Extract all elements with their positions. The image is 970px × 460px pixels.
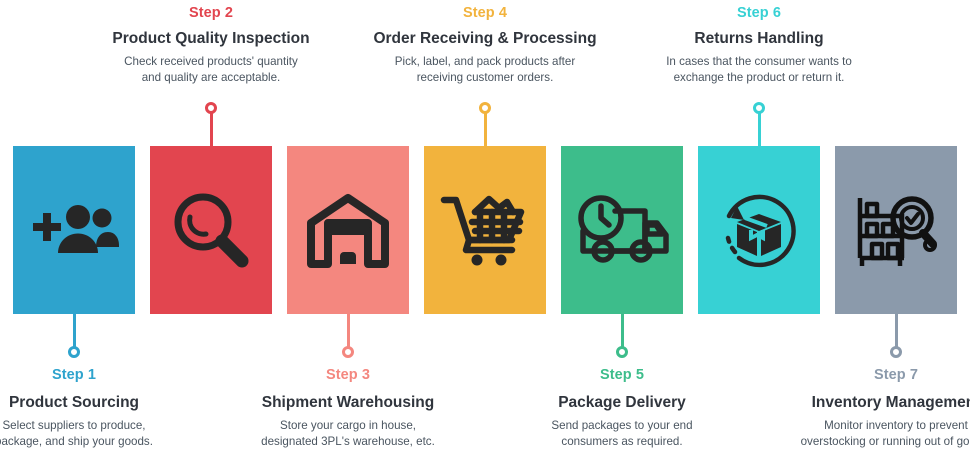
step-title: Order Receiving & Processing bbox=[353, 29, 618, 48]
step-description-line-2: receiving customer orders. bbox=[353, 70, 618, 86]
step-label: Step 2 bbox=[81, 4, 341, 22]
step-card-2[interactable] bbox=[150, 146, 272, 314]
step-title: Product Sourcing bbox=[0, 393, 182, 412]
step-card-7[interactable] bbox=[835, 146, 957, 314]
connector-step-3 bbox=[347, 312, 350, 352]
step-description-line-1: Send packages to your end bbox=[515, 418, 730, 434]
connector-dot bbox=[479, 102, 491, 114]
step-title: Shipment Warehousing bbox=[231, 393, 466, 412]
step-description-line-2: consumers as required. bbox=[515, 434, 730, 450]
connector-step-6 bbox=[758, 108, 761, 148]
connector-step-7 bbox=[895, 312, 898, 352]
step-text-6: Step 6 Returns Handling In cases that th… bbox=[634, 4, 884, 85]
step-description-line-1: Select suppliers to produce, bbox=[0, 418, 182, 434]
step-label: Step 4 bbox=[353, 4, 618, 22]
connector-step-2 bbox=[210, 108, 213, 148]
step-description-line-1: Check received products' quantity bbox=[81, 54, 341, 70]
step-description-line-1: Pick, label, and pack products after bbox=[353, 54, 618, 70]
shopping-cart-icon bbox=[439, 190, 531, 270]
step-label: Step 3 bbox=[231, 366, 466, 384]
step-description-line-2: package, and ship your goods. bbox=[0, 434, 182, 450]
step-description-line-1: Store your cargo in house, bbox=[231, 418, 466, 434]
magnifying-glass-icon bbox=[168, 187, 254, 273]
connector-dot bbox=[753, 102, 765, 114]
step-description: Check received products' quantity and qu… bbox=[81, 54, 341, 85]
connector-line bbox=[484, 108, 487, 148]
add-people-icon bbox=[29, 195, 119, 265]
step-cards-row bbox=[0, 146, 970, 314]
step-title: Product Quality Inspection bbox=[81, 29, 341, 48]
step-card-1[interactable] bbox=[13, 146, 135, 314]
step-description: Select suppliers to produce, package, an… bbox=[0, 418, 182, 449]
connector-step-5 bbox=[621, 312, 624, 352]
step-label: Step 7 bbox=[769, 366, 970, 384]
step-card-5[interactable] bbox=[561, 146, 683, 314]
step-card-4[interactable] bbox=[424, 146, 546, 314]
step-description: In cases that the consumer wants to exch… bbox=[634, 54, 884, 85]
step-description: Send packages to your end consumers as r… bbox=[515, 418, 730, 449]
step-label: Step 5 bbox=[515, 366, 730, 384]
step-text-1: Step 1 Product Sourcing Select suppliers… bbox=[0, 366, 182, 449]
step-title: Returns Handling bbox=[634, 29, 884, 48]
step-description-line-1: In cases that the consumer wants to bbox=[634, 54, 884, 70]
connector-dot bbox=[890, 346, 902, 358]
step-description: Store your cargo in house, designated 3P… bbox=[231, 418, 466, 449]
step-title: Package Delivery bbox=[515, 393, 730, 412]
connector-dot bbox=[68, 346, 80, 358]
step-description-line-2: and quality are acceptable. bbox=[81, 70, 341, 86]
step-label: Step 1 bbox=[0, 366, 182, 384]
step-text-7: Step 7 Inventory Management Monitor inve… bbox=[769, 366, 970, 449]
step-description-line-2: exchange the product or return it. bbox=[634, 70, 884, 86]
step-description: Pick, label, and pack products after rec… bbox=[353, 54, 618, 85]
connector-dot bbox=[616, 346, 628, 358]
connector-line bbox=[210, 108, 213, 148]
step-card-6[interactable] bbox=[698, 146, 820, 314]
step-label: Step 6 bbox=[634, 4, 884, 22]
step-description-line-1: Monitor inventory to prevent bbox=[769, 418, 970, 434]
connector-dot bbox=[205, 102, 217, 114]
connector-dot bbox=[342, 346, 354, 358]
inventory-shelf-check-icon bbox=[850, 188, 942, 272]
step-description: Monitor inventory to prevent overstockin… bbox=[769, 418, 970, 449]
step-description-line-2: designated 3PL's warehouse, etc. bbox=[231, 434, 466, 450]
return-box-icon bbox=[715, 186, 803, 274]
delivery-truck-clock-icon bbox=[575, 193, 669, 267]
connector-step-1 bbox=[73, 312, 76, 352]
infographic-canvas: Step 2 Product Quality Inspection Check … bbox=[0, 0, 970, 460]
step-card-3[interactable] bbox=[287, 146, 409, 314]
warehouse-icon bbox=[305, 191, 391, 269]
step-text-2: Step 2 Product Quality Inspection Check … bbox=[81, 4, 341, 85]
step-text-4: Step 4 Order Receiving & Processing Pick… bbox=[353, 4, 618, 85]
connector-line bbox=[758, 108, 761, 148]
connector-step-4 bbox=[484, 108, 487, 148]
step-text-5: Step 5 Package Delivery Send packages to… bbox=[515, 366, 730, 449]
step-title: Inventory Management bbox=[769, 393, 970, 412]
step-text-3: Step 3 Shipment Warehousing Store your c… bbox=[231, 366, 466, 449]
step-description-line-2: overstocking or running out of goods. bbox=[769, 434, 970, 450]
